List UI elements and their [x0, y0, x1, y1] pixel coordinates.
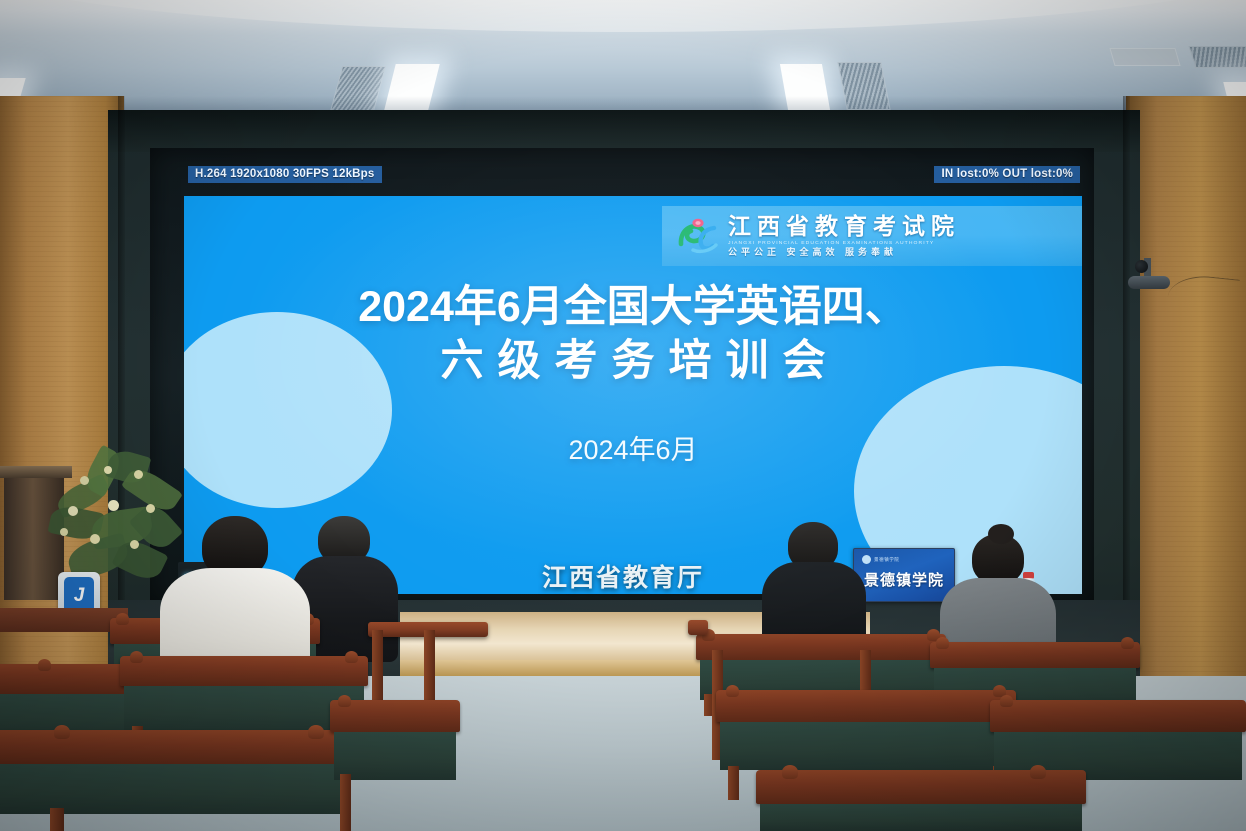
bench-knob — [1030, 765, 1046, 779]
bench-seat — [720, 722, 1012, 770]
bench-backrest — [120, 656, 368, 686]
bench-backrest — [990, 700, 1246, 732]
bench-knob — [116, 613, 129, 625]
slide-logo-motto: 公平公正 安全高效 服务奉献 — [728, 248, 1072, 257]
person-hair-bun — [988, 524, 1014, 544]
stream-packet-loss-badge: IN lost:0% OUT lost:0% — [934, 166, 1080, 183]
camera-lens — [1135, 260, 1148, 273]
front-table — [0, 608, 128, 632]
bench-seat — [124, 686, 364, 732]
ceiling-air-vent — [1109, 48, 1180, 66]
bench-leg — [728, 766, 739, 800]
bench-knob — [54, 725, 70, 739]
bench-knob — [1121, 637, 1134, 649]
slide-logo-pinyin: JIANGXI PROVINCIAL EDUCATION EXAMINATION… — [728, 241, 1072, 246]
slide-title-line-1: 2024年6月全国大学英语四、 — [358, 283, 908, 331]
sign-logo-text: 景德镇学院 — [874, 557, 900, 563]
bench-backrest — [716, 690, 1016, 722]
slide-title-line-2: 六级考务培训会 — [184, 334, 1082, 388]
bench-seat — [760, 804, 1082, 831]
bench-backrest — [696, 634, 946, 660]
camera-body — [1128, 276, 1170, 289]
bench-leg — [340, 774, 351, 831]
venue-name-text: 景德镇学院 — [854, 569, 954, 590]
bench-row — [330, 700, 460, 831]
conference-room-screenshot: 江西省教育考试院 JIANGXI PROVINCIAL EDUCATION EX… — [0, 0, 1246, 831]
bench-knob — [308, 725, 324, 739]
slide-title: 2024年6月全国大学英语四、 六级考务培训会 — [184, 280, 1082, 388]
bench-knob — [345, 651, 358, 663]
slide-subtitle: 2024年6月 — [184, 428, 1082, 467]
bench-knob — [38, 659, 51, 671]
slide-logo-bar: 江西省教育考试院 JIANGXI PROVINCIAL EDUCATION EX… — [662, 206, 1082, 266]
bench-row — [756, 770, 1086, 831]
bench-row — [0, 730, 344, 831]
slide-logo-organization: 江西省教育考试院 — [728, 215, 1072, 238]
sign-logo: 景德镇学院 — [862, 555, 900, 564]
stream-codec-badge: H.264 1920x1080 30FPS 12kBps — [188, 166, 382, 183]
ceiling-air-vent — [1188, 46, 1246, 68]
bench-backrest — [930, 642, 1140, 668]
bench-knob — [936, 637, 949, 649]
bench-backrest — [0, 730, 344, 764]
bench-knob — [338, 695, 351, 707]
bench-knob — [782, 765, 798, 779]
desk-surface — [688, 620, 708, 635]
bench-knob — [726, 685, 739, 697]
bench-leg — [50, 808, 64, 831]
bench-seat — [334, 732, 456, 780]
ptz-camera-icon — [1126, 258, 1172, 292]
education-authority-emblem-icon — [674, 214, 720, 258]
bench-seat — [0, 764, 340, 814]
bench-knob — [1000, 695, 1013, 707]
bench-knob — [130, 651, 143, 663]
screen-recess-header — [108, 110, 1140, 152]
